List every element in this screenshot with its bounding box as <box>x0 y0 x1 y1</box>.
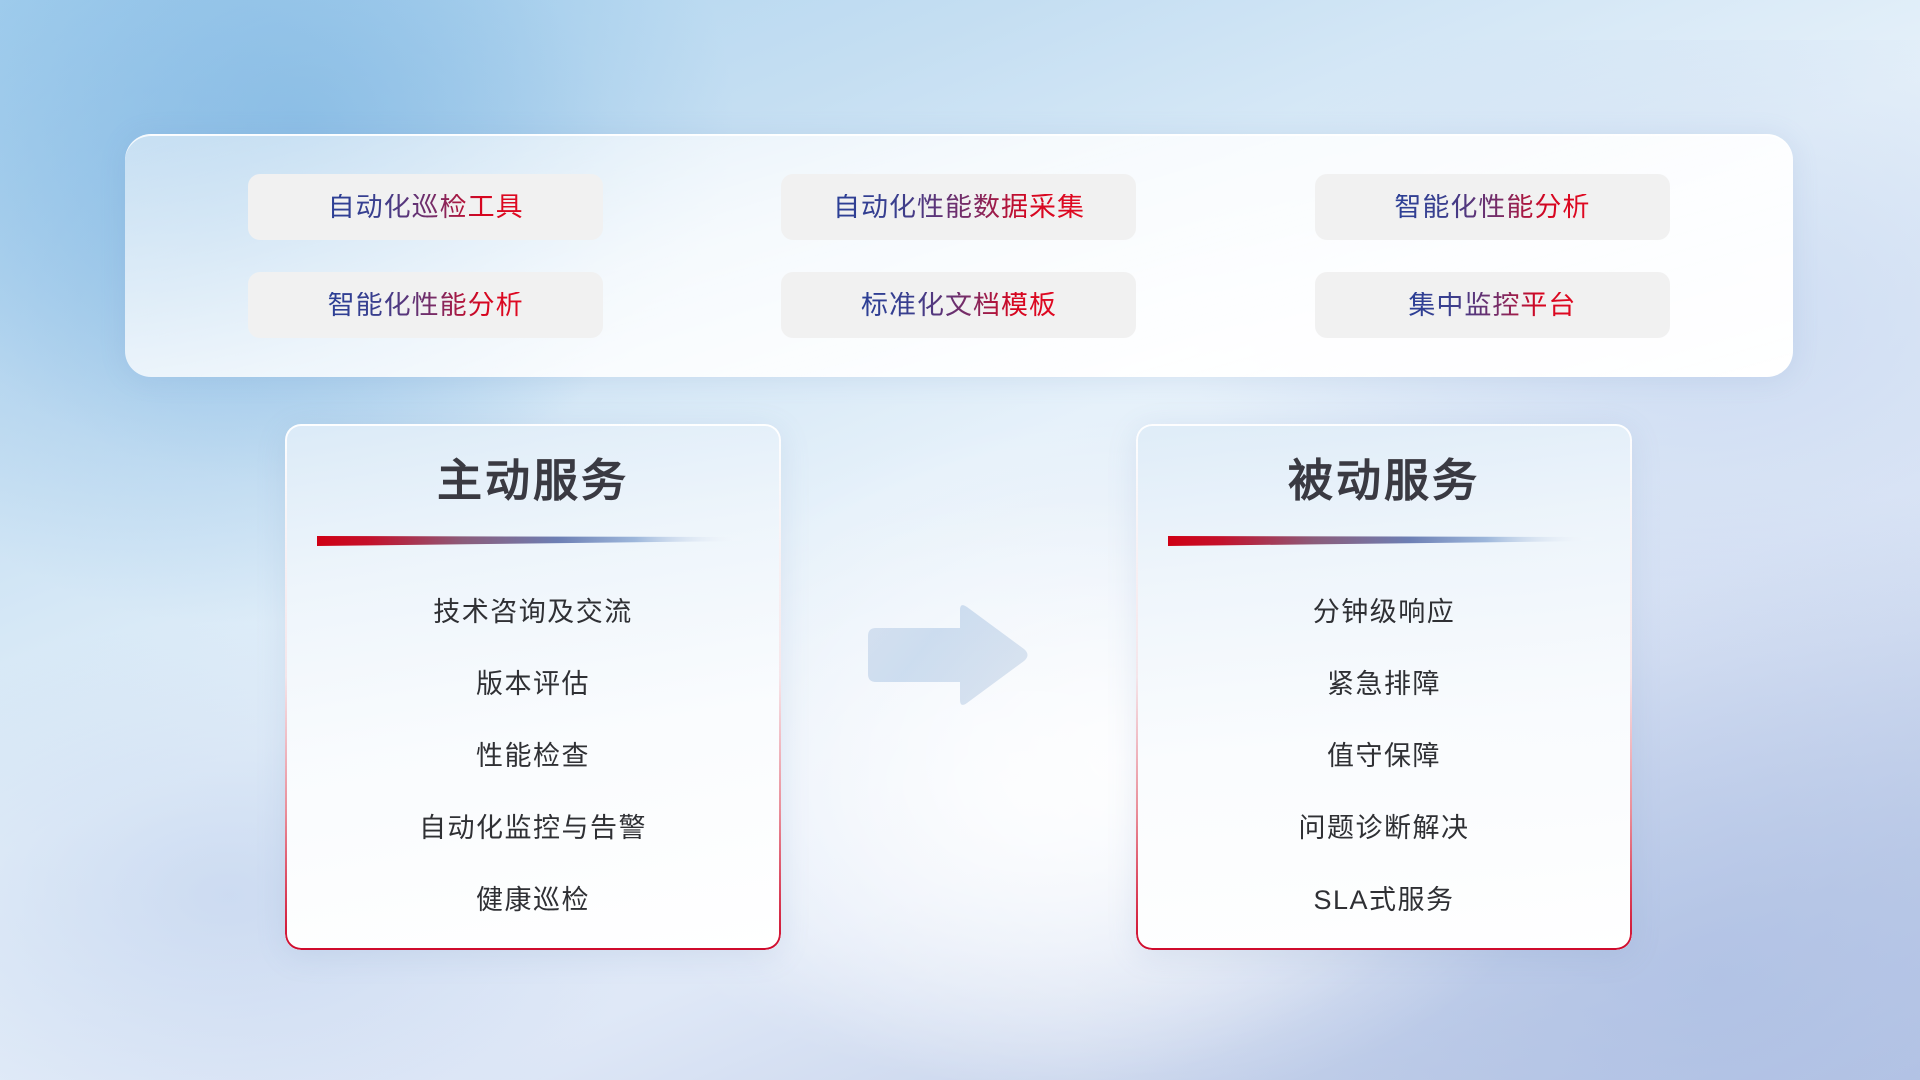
service-card-passive[interactable]: 被动服务 分钟级响应 紧急排障 值守保障 问题诊断解决 SLA式服务 <box>1136 424 1632 950</box>
capability-tag-label: 自动化巡检工具 <box>328 194 524 221</box>
capability-tag[interactable]: 自动化性能数据采集 <box>781 174 1136 240</box>
capability-tag[interactable]: 自动化巡检工具 <box>248 174 603 240</box>
service-item: 技术咨询及交流 <box>433 576 633 648</box>
capability-tag-label: 智能化性能分析 <box>1394 194 1590 221</box>
service-item-list: 分钟级响应 紧急排障 值守保障 问题诊断解决 SLA式服务 <box>1136 576 1632 936</box>
capability-tag[interactable]: 智能化性能分析 <box>1315 174 1670 240</box>
service-item: 问题诊断解决 <box>1299 792 1470 864</box>
capability-tag-label: 集中监控平台 <box>1408 292 1576 319</box>
service-item: 分钟级响应 <box>1313 576 1456 648</box>
service-item: 版本评估 <box>476 648 590 720</box>
service-item: 性能检查 <box>476 720 590 792</box>
service-item: 紧急排障 <box>1327 648 1441 720</box>
title-divider-rule <box>1168 534 1598 547</box>
capability-tag[interactable]: 标准化文档模板 <box>781 272 1136 338</box>
arrow-right-icon <box>862 600 1032 710</box>
service-item: 自动化监控与告警 <box>419 792 647 864</box>
service-item-list: 技术咨询及交流 版本评估 性能检查 自动化监控与告警 健康巡检 <box>285 576 781 936</box>
capability-tag-label: 标准化文档模板 <box>861 292 1057 319</box>
capability-tag-grid: 自动化巡检工具 自动化性能数据采集 智能化性能分析 智能化性能分析 标准化文档模… <box>125 135 1793 377</box>
service-card-title: 被动服务 <box>1136 458 1632 503</box>
capability-tag[interactable]: 智能化性能分析 <box>248 272 603 338</box>
slide-canvas: 自动化巡检工具 自动化性能数据采集 智能化性能分析 智能化性能分析 标准化文档模… <box>0 0 1920 1080</box>
service-item: 值守保障 <box>1327 720 1441 792</box>
service-card-active[interactable]: 主动服务 技术咨询及交流 版本评估 性能检查 自动化监控与告警 健康巡检 <box>285 424 781 950</box>
service-item: 健康巡检 <box>476 864 590 936</box>
service-item: SLA式服务 <box>1313 864 1454 936</box>
service-card-title: 主动服务 <box>285 458 781 503</box>
capability-tag-label: 智能化性能分析 <box>328 292 524 319</box>
title-divider-rule <box>317 534 747 547</box>
capability-tag-label: 自动化性能数据采集 <box>833 194 1085 221</box>
capability-tag[interactable]: 集中监控平台 <box>1315 272 1670 338</box>
capability-panel: 自动化巡检工具 自动化性能数据采集 智能化性能分析 智能化性能分析 标准化文档模… <box>125 134 1793 377</box>
